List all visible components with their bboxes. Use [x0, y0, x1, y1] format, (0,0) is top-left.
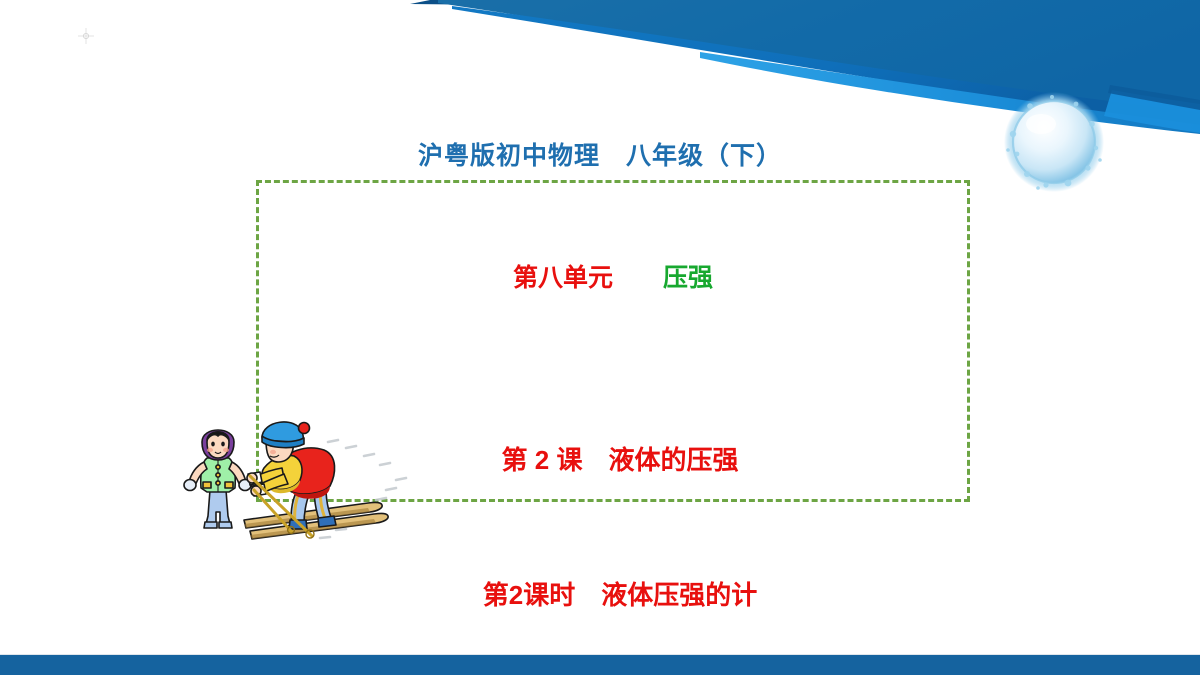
unit-number: 第八单元 [513, 264, 613, 292]
crosshair-registration-mark [78, 28, 94, 44]
standing-child [184, 430, 251, 528]
banner-bright-stripe [700, 52, 1200, 134]
children-skiing-illustration [180, 412, 420, 547]
unit-heading: 第八单元 压强 [256, 258, 970, 294]
banner-right-wedge [1104, 90, 1200, 133]
water-highlight [1026, 114, 1056, 134]
unit-separator [613, 264, 663, 292]
skiing-child [244, 422, 388, 539]
course-title: 沪粤版初中物理 八年级（下） [0, 136, 1200, 172]
banner-top-sliver [410, 0, 1200, 7]
unit-topic: 压强 [663, 264, 713, 292]
presentation-slide: 沪粤版初中物理 八年级（下） 第八单元 压强 第 2 课 液体的压强 第2课时 … [0, 0, 1200, 675]
lesson-line-2: 第2课时 液体压强的计 [300, 573, 940, 618]
banner-fold-edge [1108, 85, 1200, 110]
footer-blue-bar [0, 655, 1200, 675]
